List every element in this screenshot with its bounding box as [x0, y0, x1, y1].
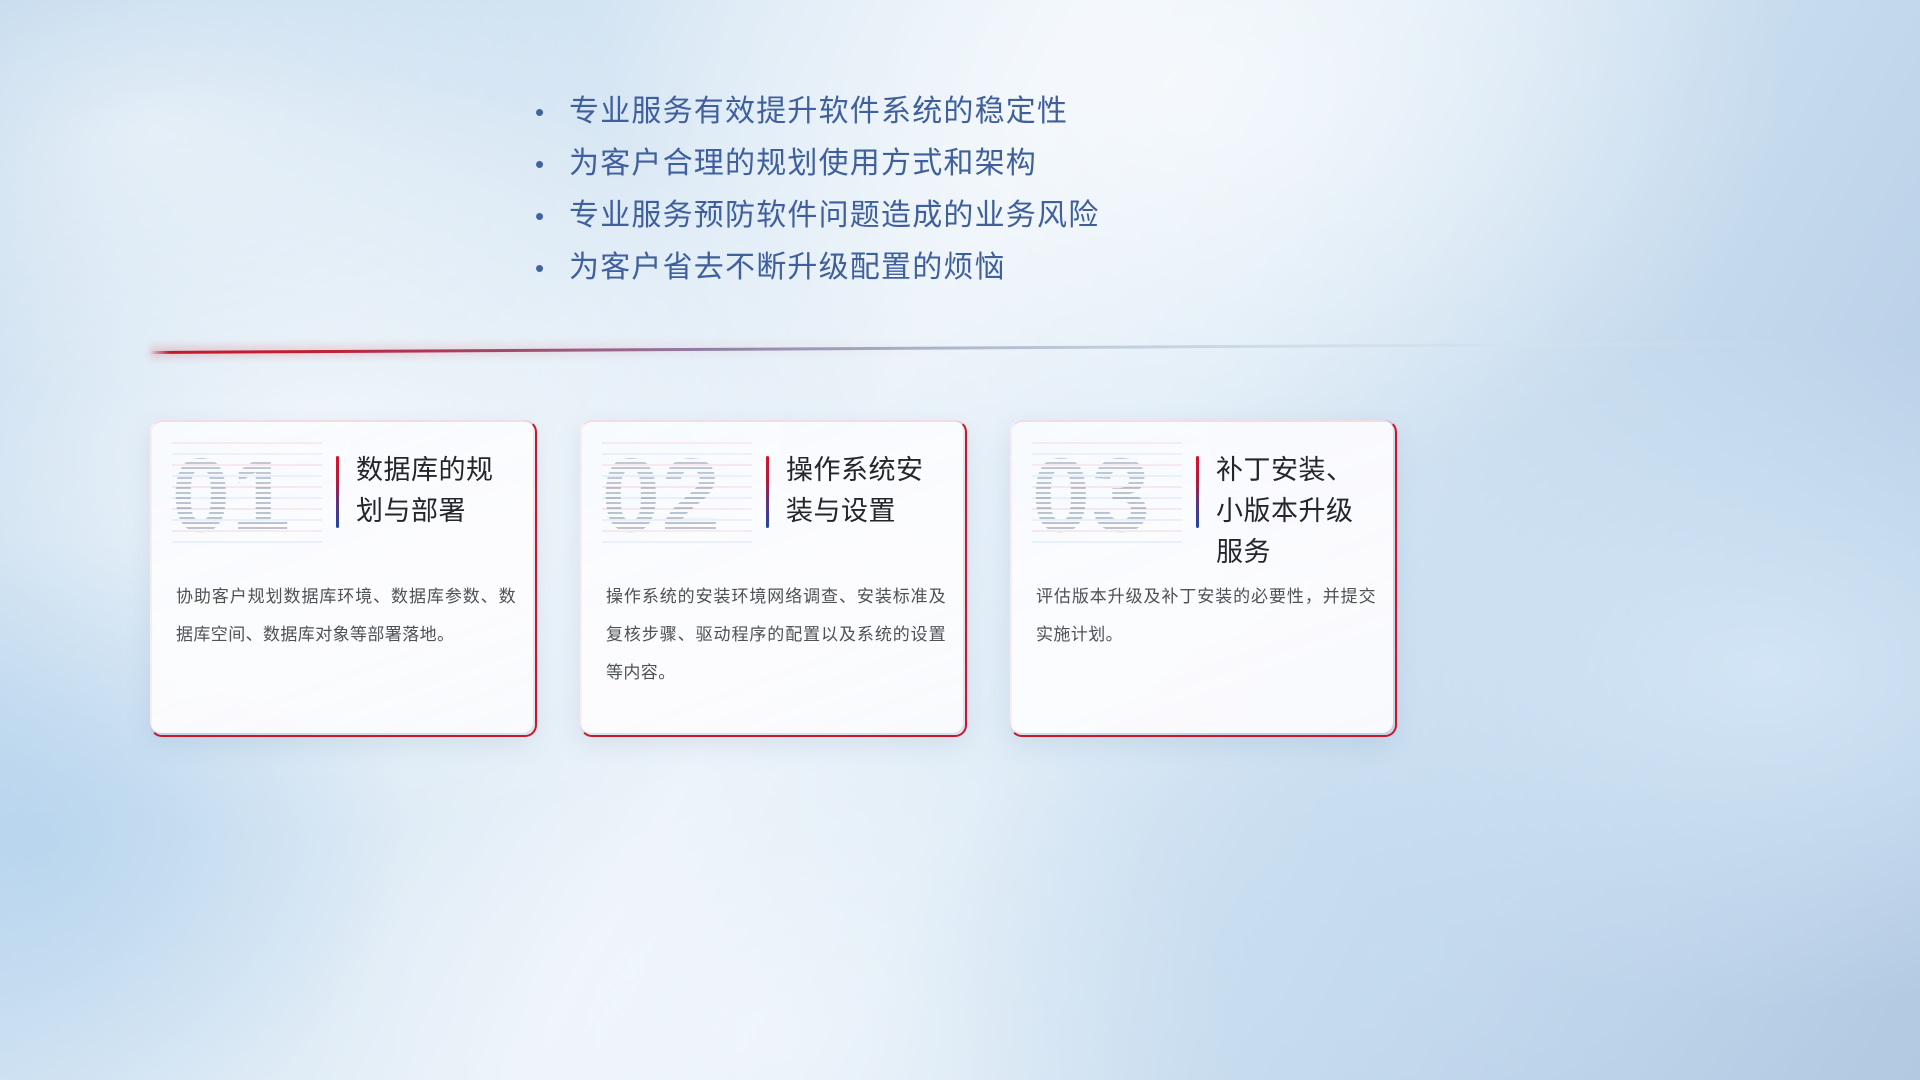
card-description: 评估版本升级及补丁安装的必要性，并提交实施计划。	[1036, 578, 1376, 654]
card-surface: 01 数据库的规划与部署 协助客户规划数据库环境、数据库参数、数据库空间、数据库…	[150, 420, 533, 733]
feature-card[interactable]: 02 操作系统安装与设置 操作系统的安装环境网络调查、安装标准及复核步骤、驱动程…	[580, 420, 967, 737]
bullet-list: • 专业服务有效提升软件系统的稳定性 • 为客户合理的规划使用方式和架构 • 专…	[535, 86, 1355, 294]
card-number: 03	[1032, 442, 1182, 550]
bullet-text: 专业服务预防软件问题造成的业务风险	[569, 190, 1099, 234]
card-title: 操作系统安装与设置	[786, 450, 946, 532]
card-description: 操作系统的安装环境网络调查、安装标准及复核步骤、驱动程序的配置以及系统的设置等内…	[606, 578, 946, 692]
card-title: 补丁安装、小版本升级服务	[1216, 450, 1376, 573]
card-surface: 03 补丁安装、小版本升级服务 评估版本升级及补丁安装的必要性，并提交实施计划。	[1010, 420, 1393, 733]
feature-card[interactable]: 01 数据库的规划与部署 协助客户规划数据库环境、数据库参数、数据库空间、数据库…	[150, 420, 537, 737]
list-item: • 专业服务有效提升软件系统的稳定性	[535, 86, 1355, 138]
card-description: 协助客户规划数据库环境、数据库参数、数据库空间、数据库对象等部署落地。	[176, 578, 516, 654]
list-item: • 专业服务预防软件问题造成的业务风险	[535, 190, 1355, 242]
card-title: 数据库的规划与部署	[356, 450, 516, 532]
bullet-text: 为客户省去不断升级配置的烦恼	[569, 242, 1006, 286]
bullet-marker-icon: •	[535, 99, 569, 125]
card-row: 01 数据库的规划与部署 协助客户规划数据库环境、数据库参数、数据库空间、数据库…	[150, 420, 1495, 740]
bullet-text: 为客户合理的规划使用方式和架构	[569, 138, 1037, 182]
title-accent-rule	[336, 456, 339, 528]
bullet-text: 专业服务有效提升软件系统的稳定性	[569, 86, 1068, 130]
card-surface: 02 操作系统安装与设置 操作系统的安装环境网络调查、安装标准及复核步骤、驱动程…	[580, 420, 963, 733]
bullet-marker-icon: •	[535, 203, 569, 229]
title-accent-rule	[766, 456, 769, 528]
bullet-marker-icon: •	[535, 151, 569, 177]
title-accent-rule	[1196, 456, 1199, 528]
list-item: • 为客户合理的规划使用方式和架构	[535, 138, 1355, 190]
feature-card[interactable]: 03 补丁安装、小版本升级服务 评估版本升级及补丁安装的必要性，并提交实施计划。	[1010, 420, 1397, 737]
bullet-marker-icon: •	[535, 255, 569, 281]
card-number: 02	[602, 442, 752, 550]
card-number: 01	[172, 442, 322, 550]
list-item: • 为客户省去不断升级配置的烦恼	[535, 242, 1355, 294]
